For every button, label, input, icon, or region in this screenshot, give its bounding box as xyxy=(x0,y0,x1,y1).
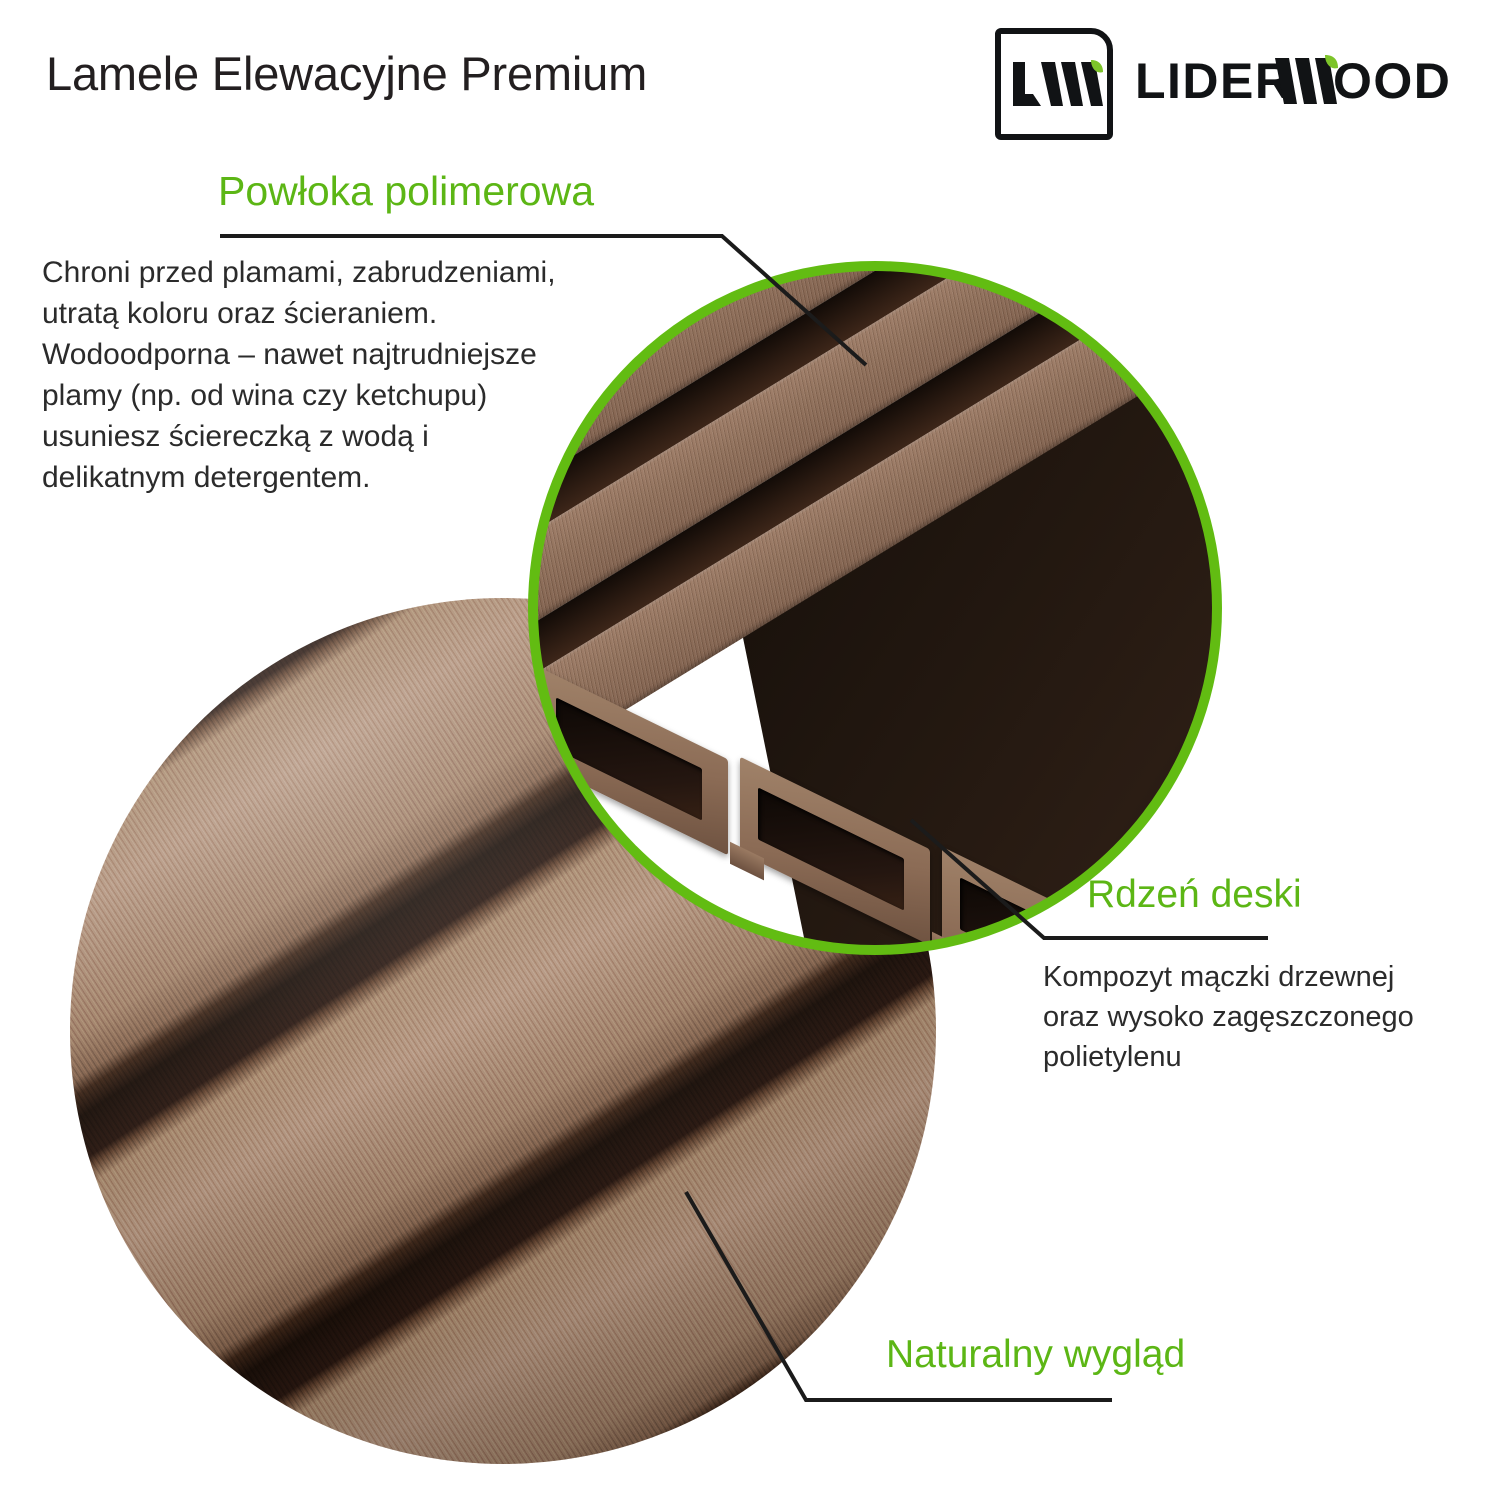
page-title: Lamele Elewacyjne Premium xyxy=(46,48,647,100)
callout-title-coating: Powłoka polimerowa xyxy=(218,168,594,215)
infographic-canvas: Lamele Elewacyjne Premium LIDER OOD Powł… xyxy=(0,0,1500,1500)
logo-mark-icon xyxy=(995,28,1113,140)
leader-lines xyxy=(0,0,1500,1500)
svg-text:OOD: OOD xyxy=(1333,53,1451,109)
svg-text:LIDER: LIDER xyxy=(1135,53,1293,109)
callout-body-core: Kompozyt mączki drzewnej oraz wysoko zag… xyxy=(1043,957,1443,1077)
callout-body-coating: Chroni przed plamami, zabrudzeniami, utr… xyxy=(42,252,562,498)
lw-monogram-icon xyxy=(1011,60,1105,122)
callout-title-look: Naturalny wygląd xyxy=(886,1333,1185,1377)
logo-wordmark: LIDER OOD xyxy=(1135,52,1467,112)
brand-logo[interactable]: LIDER OOD xyxy=(995,28,1475,140)
callout-title-core: Rdzeń deski xyxy=(1087,873,1302,917)
